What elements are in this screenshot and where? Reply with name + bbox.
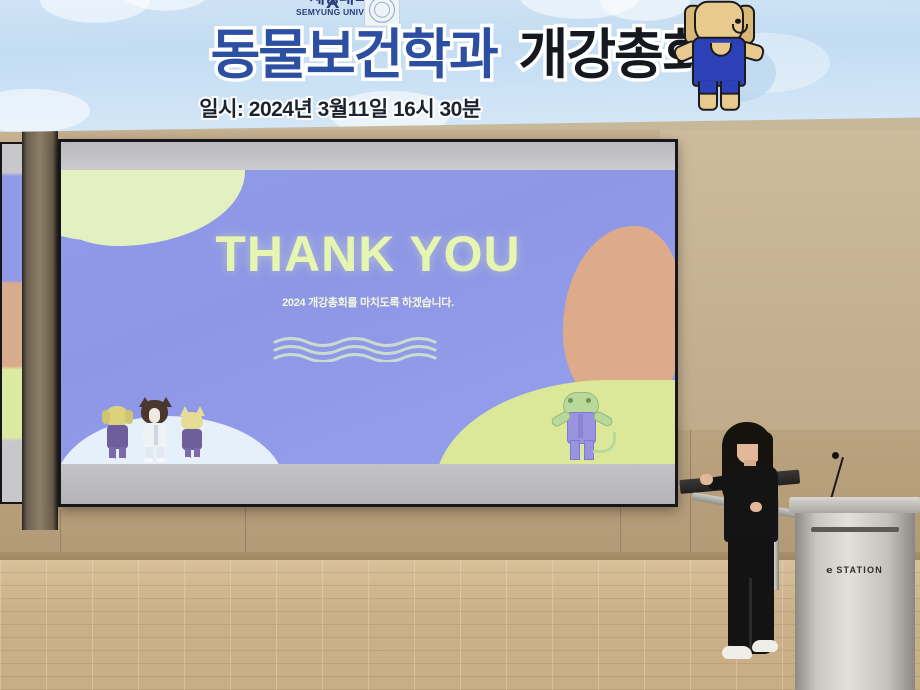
event-banner: 세명대학교 SEMYUNG UNIVERSITY X 동물보건학과 개강총회 일…: [0, 0, 920, 132]
lizard-character: [551, 392, 611, 464]
podium-slot: [811, 527, 899, 532]
podium-brand-name: STATION: [836, 565, 883, 575]
banner-title-row: 동물보건학과 개강총회: [0, 19, 920, 91]
cat-character: [137, 400, 173, 462]
slide-subtitle: 2024 개강총회를 마치도록 하겠습니다.: [61, 294, 675, 310]
collab-mark: X: [326, 0, 339, 14]
microphone-icon: [832, 452, 839, 459]
presenter: [706, 418, 792, 680]
screen-blank-band-bottom: [61, 464, 675, 504]
slide-characters-group: [101, 396, 231, 462]
banner-title-department: 동물보건학과: [211, 27, 497, 83]
projection-screen: THANK YOU 2024 개강총회를 마치도록 하겠습니다.: [58, 139, 678, 507]
scene: THANK YOU 2024 개강총회를 마치도록 하겠습니다.: [0, 0, 920, 690]
corgi-character: [177, 410, 209, 462]
slide-heading: THANK YOU: [61, 226, 675, 282]
wall-column: [22, 130, 58, 530]
upper-wall-panel: [660, 130, 920, 430]
dog-mascot-icon: [676, 0, 758, 115]
banner-date: 일시: 2024년 3월11일 16시 30분: [0, 93, 680, 123]
podium: eSTATION: [795, 505, 915, 690]
dog-character: [101, 406, 135, 462]
podium-brand-label: eSTATION: [795, 565, 915, 575]
podium-brand-prefix: e: [826, 565, 834, 575]
screen-blank-band-top: [61, 142, 675, 170]
presentation-slide: THANK YOU 2024 개강총회를 마치도록 하겠습니다.: [61, 170, 675, 470]
wavy-lines-decoration: [273, 336, 463, 362]
podium-top: [789, 497, 920, 513]
